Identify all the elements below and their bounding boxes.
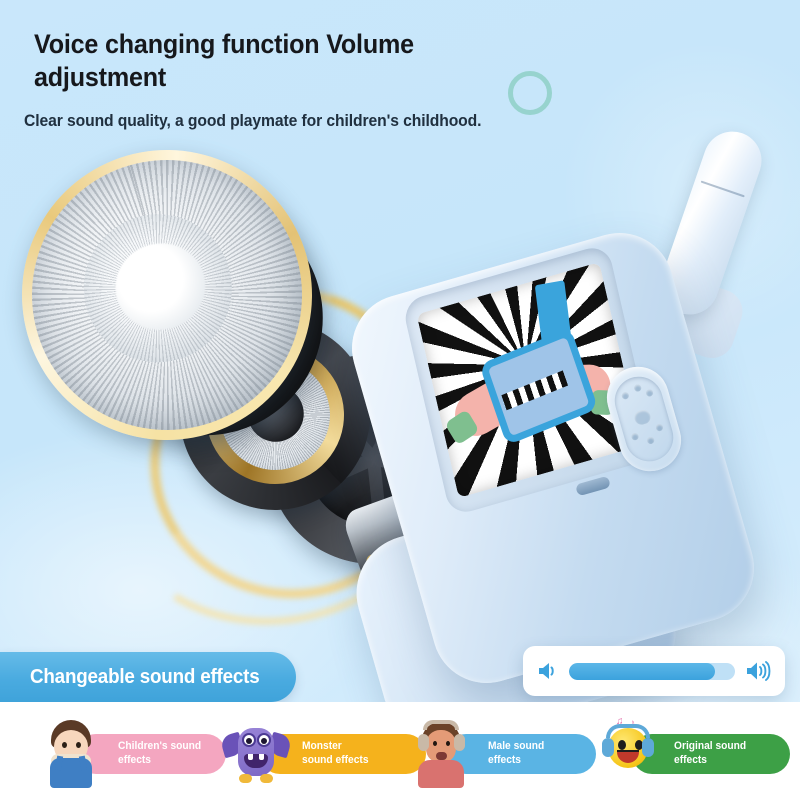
product-marketing-banner: Voice changing function Volume adjustmen… (0, 0, 800, 800)
sound-effect-label: Monster sound effects (302, 740, 369, 768)
volume-fill (569, 663, 715, 680)
kids-walkie-talkie (330, 110, 800, 690)
boy-character (38, 716, 104, 788)
page-title: Voice changing function Volume adjustmen… (34, 28, 471, 94)
sound-effect-label: Children's sound effects (118, 740, 201, 768)
sound-effect-label: Original sound effects (674, 740, 746, 768)
changeable-sound-effects-banner: Changeable sound effects (0, 652, 296, 702)
banner-label: Changeable sound effects (30, 666, 259, 689)
sound-effects-strip: Children's sound effects Monster sound e… (0, 702, 800, 800)
pop-art-screen (417, 262, 642, 498)
volume-track[interactable] (569, 663, 735, 680)
circle-outline-icon (508, 71, 552, 115)
volume-slider[interactable] (523, 646, 785, 696)
volume-high-icon (744, 659, 772, 683)
monster-character (222, 716, 288, 788)
sound-effect-label: Male sound effects (488, 740, 544, 768)
smiley-headphones-character: ♫ ♪ (594, 716, 660, 788)
volume-low-icon (536, 660, 560, 682)
man-headphones-character (408, 716, 474, 788)
